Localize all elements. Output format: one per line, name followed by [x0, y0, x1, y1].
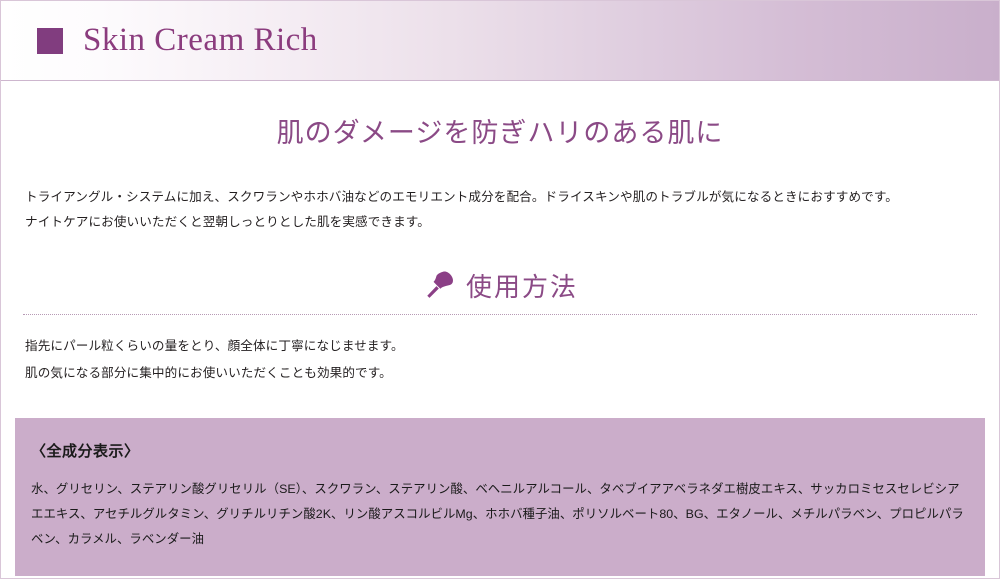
usage-section-label: 使用方法 [466, 267, 578, 304]
square-mark-icon [37, 28, 63, 54]
product-page: Skin Cream Rich 肌のダメージを防ぎハリのある肌に トライアングル… [0, 0, 1000, 579]
ingredients-list: 水、グリセリン、ステアリン酸グリセリル（SE）、スクワラン、ステアリン酸、ベヘニ… [31, 477, 969, 551]
page-title: Skin Cream Rich [83, 24, 318, 57]
lead-line-1: トライアングル・システムに加え、スクワランやホホバ油などのエモリエント成分を配合… [25, 185, 975, 210]
lead-line-2: ナイトケアにお使いいただくと翌朝しっとりとした肌を実感できます。 [25, 210, 975, 235]
usage-line-1: 指先にパール粒くらいの量をとり、顔全体に丁寧になじませます。 [25, 333, 975, 359]
page-header: Skin Cream Rich [1, 1, 999, 81]
lead-paragraph: トライアングル・システムに加え、スクワランやホホバ油などのエモリエント成分を配合… [25, 185, 975, 235]
ingredients-panel: 〈全成分表示〉 水、グリセリン、ステアリン酸グリセリル（SE）、スクワラン、ステ… [15, 418, 985, 575]
usage-section-heading: 使用方法 [1, 267, 999, 304]
usage-line-2: 肌の気になる部分に集中的にお使いいただくことも効果的です。 [25, 360, 975, 386]
ingredients-title: 〈全成分表示〉 [31, 440, 969, 461]
usage-text: 指先にパール粒くらいの量をとり、顔全体に丁寧になじませます。 肌の気になる部分に… [25, 333, 975, 386]
page-content: 肌のダメージを防ぎハリのある肌に トライアングル・システムに加え、スクワランやホ… [1, 116, 999, 576]
pushpin-icon [422, 269, 456, 303]
section-divider [23, 314, 977, 315]
headline: 肌のダメージを防ぎハリのある肌に [1, 116, 999, 151]
